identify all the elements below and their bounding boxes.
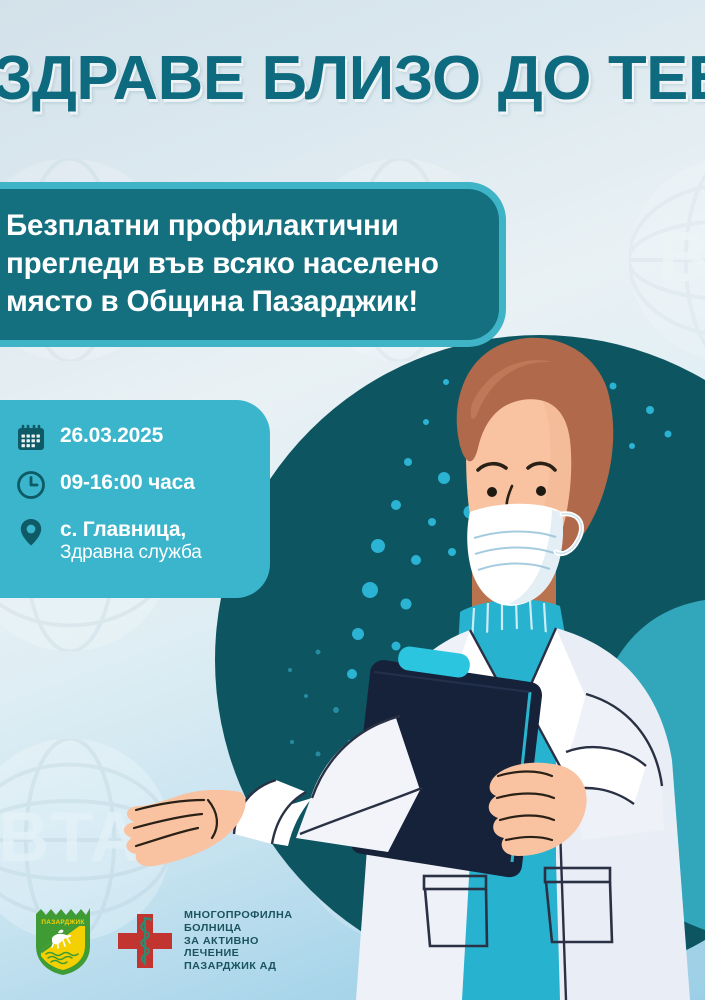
calendar-icon <box>16 423 46 453</box>
hospital-name-text: МНОГОПРОФИЛНА БОЛНИЦА ЗА АКТИВНО ЛЕЧЕНИЕ… <box>184 909 292 973</box>
event-info-panel: 26.03.2025 09-16:00 часа с <box>0 400 270 598</box>
event-location-venue: Здравна служба <box>60 542 202 564</box>
event-date: 26.03.2025 <box>60 424 163 447</box>
footer-logos: ПАЗАРДЖИК <box>32 904 289 978</box>
info-location-texts: с. Главница, Здравна служба <box>60 516 202 564</box>
pazardzhik-coat-of-arms: ПАЗАРДЖИК <box>32 904 94 978</box>
hospital-logo: МНОГОПРОФИЛНА БОЛНИЦА ЗА АКТИВНО ЛЕЧЕНИЕ… <box>116 909 289 973</box>
info-row-date: 26.03.2025 <box>16 422 270 453</box>
red-cross-caduceus-icon <box>116 912 174 970</box>
subtitle-text: Безплатни профилактични прегледи във вся… <box>6 207 465 320</box>
subtitle-panel: Безплатни профилактични прегледи във вся… <box>0 182 506 347</box>
event-location-village: с. Главница, <box>60 518 202 542</box>
event-time: 09-16:00 часа <box>60 471 195 494</box>
coat-of-arms-banner-text: ПАЗАРДЖИК <box>41 919 84 926</box>
info-date-texts: 26.03.2025 <box>60 422 163 448</box>
info-row-location: с. Главница, Здравна служба <box>16 516 270 564</box>
poster-canvas: BTA BTA <box>0 0 705 1000</box>
page-title: ЗДРАВЕ БЛИЗО ДО ТЕБ <box>0 48 705 110</box>
info-row-time: 09-16:00 часа <box>16 469 270 500</box>
poster-title-container: ЗДРАВЕ БЛИЗО ДО ТЕБ <box>0 48 705 110</box>
location-pin-icon <box>16 517 46 547</box>
clock-icon <box>16 470 46 500</box>
info-time-texts: 09-16:00 часа <box>60 469 195 495</box>
